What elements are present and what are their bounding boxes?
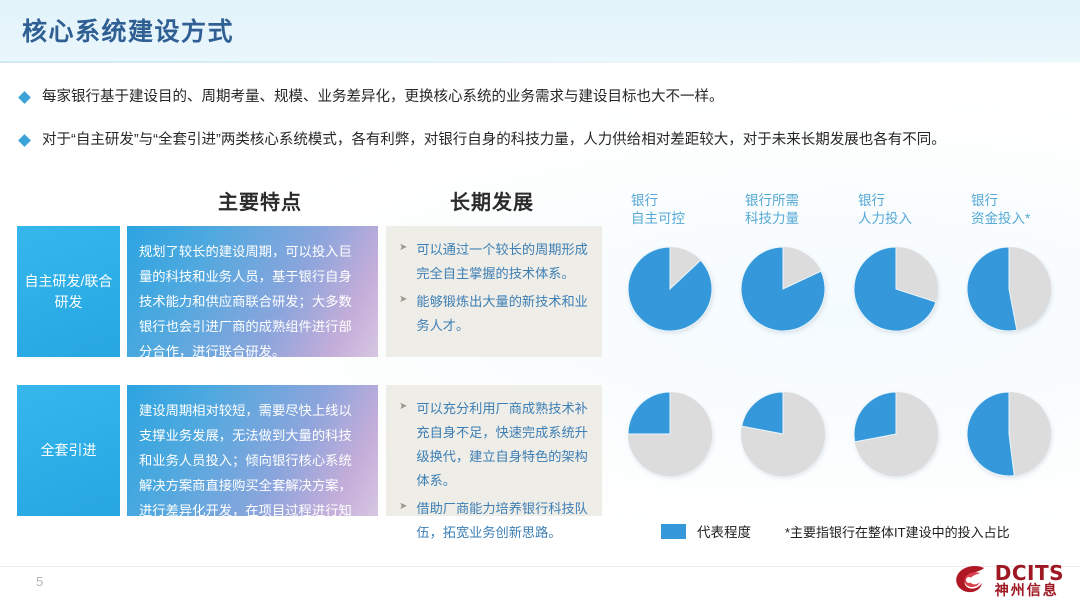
list-item-text: 能够锻炼出大量的新技术和业务人才。 [416,290,592,338]
brand-logo: DCITS 神州信息 [954,563,1064,598]
pie-chart-r1-c3 [967,392,1051,476]
list-item-text: 借助厂商能力培养银行科技队伍，拓宽业务创新思路。 [416,497,592,545]
pie-header-line: 科技力量 [745,210,799,228]
footer-divider [0,566,1080,567]
arrow-right-icon: ➤ [399,497,407,516]
diamond-icon [18,134,31,147]
pie-header-line: 银行 [631,192,685,210]
row-features-self-development: 规划了较长的建设周期，可以投入巨量的科技和业务人员，基于银行自身技术能力和供应商… [127,226,378,357]
bullet-text: 每家银行基于建设目的、周期考量、规模、业务差异化，更换核心系统的业务需求与建设目… [42,87,724,107]
chart-legend: 代表程度 *主要指银行在整体IT建设中的投入占比 [661,521,1010,541]
brand-text: DCITS 神州信息 [995,563,1064,598]
pie-column-header-0: 银行 自主可控 [631,192,685,228]
pie-header-line: 自主可控 [631,210,685,228]
column-header-features: 主要特点 [218,186,302,215]
legend-swatch-filled [661,524,686,539]
column-header-longterm: 长期发展 [450,186,534,215]
pie-chart-r0-c2 [854,247,938,331]
pie-header-line: 银行所需 [745,192,799,210]
diamond-icon [18,91,31,104]
pie-column-header-2: 银行 人力投入 [858,192,912,228]
legend-footnote: *主要指银行在整体IT建设中的投入占比 [785,522,1010,541]
row-features-full-introduction: 建设周期相对较短，需要尽快上线以支撑业务发展，无法做到大量的科技和业务人员投入；… [127,385,378,516]
arrow-right-icon: ➤ [399,238,407,257]
row-label-full-introduction: 全套引进 [17,385,120,516]
bullet-text: 对于“自主研发”与“全套引进”两类核心系统模式，各有利弊，对银行自身的科技力量，… [42,130,946,150]
pie-chart-r1-c1 [741,392,825,476]
page-number: 5 [36,574,43,589]
pie-header-line: 银行 [971,192,1030,210]
row-longterm-full-introduction: ➤ 可以充分利用厂商成熟技术补充自身不足，快速完成系统升级换代，建立自身特色的架… [386,385,602,516]
arrow-right-icon: ➤ [399,397,407,416]
list-item-text: 可以充分利用厂商成熟技术补充自身不足，快速完成系统升级换代，建立自身特色的架构体… [416,397,592,493]
list-item: ➤ 借助厂商能力培养银行科技队伍，拓宽业务创新思路。 [396,497,592,545]
list-item: ➤ 能够锻炼出大量的新技术和业务人才。 [396,290,592,338]
list-item: ➤ 可以通过一个较长的周期形成完全自主掌握的技术体系。 [396,238,592,286]
bullet-item: 对于“自主研发”与“全套引进”两类核心系统模式，各有利弊，对银行自身的科技力量，… [20,130,946,150]
arrow-right-icon: ➤ [399,290,407,309]
brand-name-cn: 神州信息 [995,583,1064,597]
list-item-text: 可以通过一个较长的周期形成完全自主掌握的技术体系。 [416,238,592,286]
header-divider [0,61,1080,63]
legend-label: 代表程度 [697,521,751,541]
row-label-self-development: 自主研发/联合研发 [17,226,120,357]
pie-column-header-3: 银行 资金投入* [971,192,1030,228]
pie-column-header-1: 银行所需 科技力量 [745,192,799,228]
page-title: 核心系统建设方式 [22,12,234,48]
list-item: ➤ 可以充分利用厂商成熟技术补充自身不足，快速完成系统升级换代，建立自身特色的架… [396,397,592,493]
pie-chart-r0-c0 [628,247,712,331]
pie-header-line: 资金投入* [971,210,1030,228]
pie-chart-r0-c1 [741,247,825,331]
pie-header-line: 人力投入 [858,210,912,228]
pie-chart-r0-c3 [967,247,1051,331]
pie-chart-r1-c2 [854,392,938,476]
dcits-swirl-icon [954,565,988,595]
brand-name-en: DCITS [995,563,1064,583]
pie-chart-r1-c0 [628,392,712,476]
slide-canvas: 核心系统建设方式 每家银行基于建设目的、周期考量、规模、业务差异化，更换核心系统… [0,0,1080,608]
bullet-item: 每家银行基于建设目的、周期考量、规模、业务差异化，更换核心系统的业务需求与建设目… [20,87,724,107]
row-longterm-self-development: ➤ 可以通过一个较长的周期形成完全自主掌握的技术体系。 ➤ 能够锻炼出大量的新技… [386,226,602,357]
pie-header-line: 银行 [858,192,912,210]
